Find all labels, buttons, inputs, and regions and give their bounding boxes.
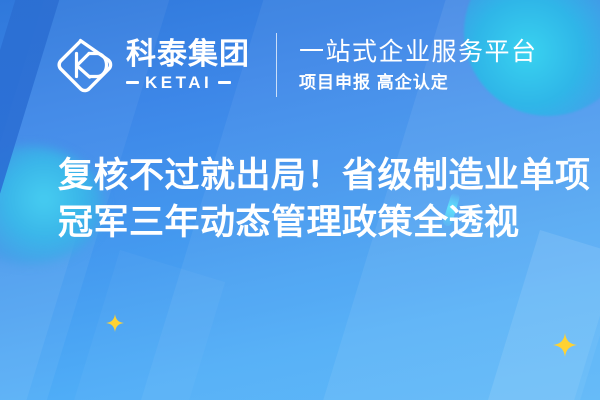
sparkle-icon: [553, 333, 577, 357]
brand-rule-left: [126, 81, 139, 84]
banner-title-line-2: 冠军三年动态管理政策全透视: [58, 199, 570, 246]
brand-name-en-row: KETAI: [126, 74, 250, 91]
brand-rule-right: [218, 81, 231, 84]
background-diagonal-band: [24, 250, 226, 400]
brand-block: 科泰集团 KETAI: [126, 39, 250, 91]
ketai-diamond-monogram-logo: [56, 36, 114, 94]
slogan-block: 一站式企业服务平台 项目申报 高企认定: [299, 37, 538, 93]
background-diagonal-band: [444, 230, 600, 400]
sparkle-icon: [106, 314, 124, 332]
banner-header: 科泰集团 KETAI 一站式企业服务平台 项目申报 高企认定: [0, 0, 600, 130]
header-divider: [276, 33, 277, 97]
slogan-sub: 项目申报 高企认定: [299, 73, 538, 93]
banner-title: 复核不过就出局！省级制造业单项 冠军三年动态管理政策全透视: [58, 152, 570, 246]
slogan-main: 一站式企业服务平台: [299, 37, 538, 67]
brand-name-cn: 科泰集团: [126, 39, 250, 71]
banner-title-line-1: 复核不过就出局！省级制造业单项: [58, 152, 570, 199]
promo-banner: 科泰集团 KETAI 一站式企业服务平台 项目申报 高企认定 复核不过就出局！省…: [0, 0, 600, 400]
brand-name-en: KETAI: [145, 74, 212, 91]
